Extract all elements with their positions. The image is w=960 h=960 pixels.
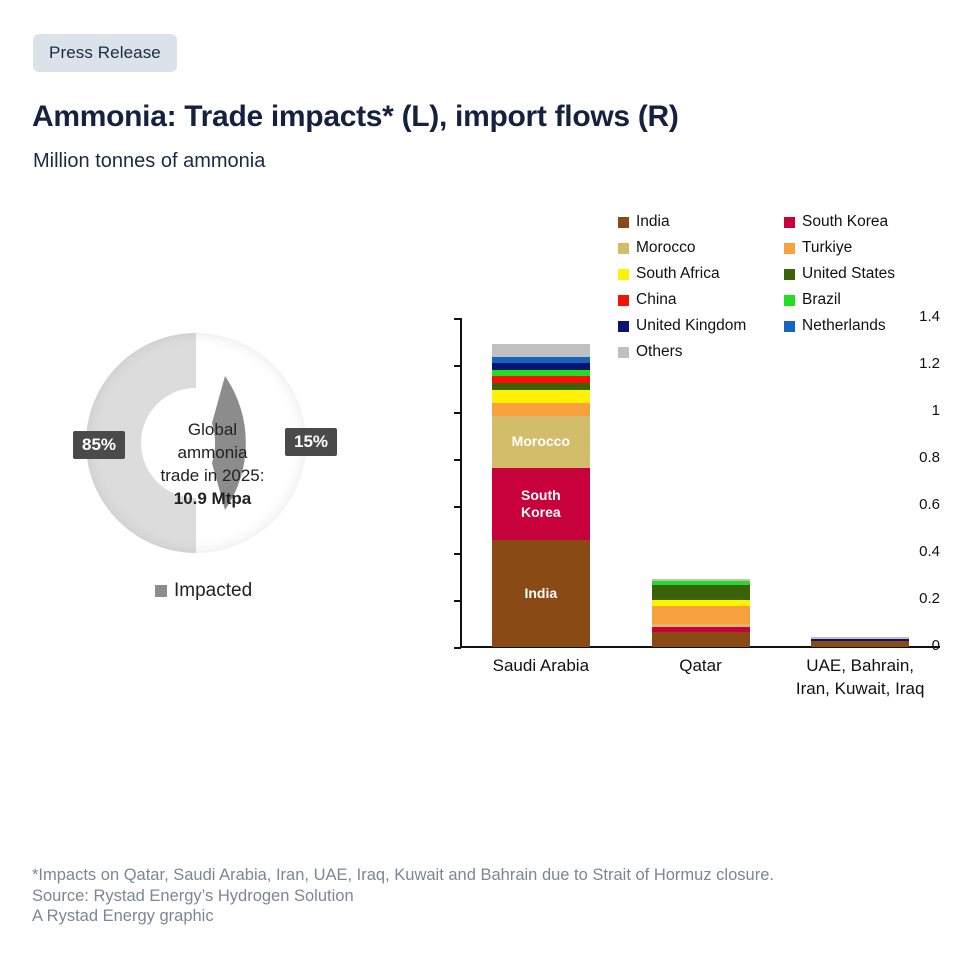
bar-segment-united-kingdom[interactable] (492, 363, 590, 370)
legend-swatch-icon (784, 269, 795, 280)
legend-item-china[interactable]: China (618, 291, 778, 309)
y-tick-mark (454, 506, 461, 508)
bar-segment-morocco[interactable]: Morocco (492, 416, 590, 469)
footnote-source: Source: Rystad Energy’s Hydrogen Solutio… (32, 886, 774, 907)
donut-legend-label-impacted: Impacted (174, 580, 252, 602)
legend-label: China (636, 291, 677, 309)
legend-label: Brazil (802, 291, 841, 309)
bar-segment-label: India (492, 585, 590, 602)
footnote-credit: A Rystad Energy graphic (32, 906, 774, 927)
bar-segment-south-africa[interactable] (492, 390, 590, 403)
bar-stack[interactable] (652, 318, 750, 647)
bar-segment-others[interactable] (811, 637, 909, 639)
press-release-badge: Press Release (33, 34, 177, 72)
donut-chart: Global ammonia trade in 2025: 10.9 Mtpa … (45, 318, 375, 608)
x-axis-label: Qatar (621, 654, 781, 677)
legend-swatch-icon (618, 243, 629, 254)
bar-chart: 00.20.40.60.811.21.4 IndiaSouthKoreaMoro… (420, 310, 940, 710)
donut-label-impacted-percent: 15% (285, 428, 337, 456)
bar-stack[interactable] (811, 318, 909, 647)
donut-legend: Impacted (155, 580, 252, 602)
donut-center-line1: Global (140, 418, 285, 441)
y-tick-mark (454, 365, 461, 367)
bar-segment-label: SouthKorea (492, 487, 590, 521)
donut-center-line2: ammonia (140, 441, 285, 464)
legend-item-brazil[interactable]: Brazil (784, 291, 944, 309)
donut-center-line3: trade in 2025: (140, 464, 285, 487)
legend-swatch-icon (618, 295, 629, 306)
legend-swatch-icon (618, 217, 629, 228)
bar-group: IndiaSouthKoreaMorocco (461, 318, 940, 647)
bar-segment-brazil[interactable] (492, 370, 590, 376)
legend-item-india[interactable]: India (618, 213, 778, 231)
footer-notes: *Impacts on Qatar, Saudi Arabia, Iran, U… (32, 865, 774, 927)
bar-segment-netherlands[interactable] (492, 357, 590, 363)
legend-item-south-africa[interactable]: South Africa (618, 265, 778, 283)
bar-segment-south-africa[interactable] (652, 600, 750, 606)
bar-segment-brazil[interactable] (652, 581, 750, 585)
footnote-impacts: *Impacts on Qatar, Saudi Arabia, Iran, U… (32, 865, 774, 886)
legend-item-turkiye[interactable]: Turkiye (784, 239, 944, 257)
x-axis-label: Saudi Arabia (461, 654, 621, 677)
legend-label: Morocco (636, 239, 695, 257)
legend-item-morocco[interactable]: Morocco (618, 239, 778, 257)
legend-label: United States (802, 265, 895, 283)
x-axis-label: UAE, Bahrain,Iran, Kuwait, Iraq (780, 654, 940, 700)
bar-segment-south-korea[interactable]: SouthKorea (492, 468, 590, 540)
legend-label: Turkiye (802, 239, 852, 257)
donut-center-value: 10.9 Mtpa (140, 487, 285, 510)
bar-segment-label: Morocco (492, 433, 590, 450)
y-tick-mark (454, 647, 461, 649)
y-tick-mark (454, 459, 461, 461)
donut-label-unimpacted-percent: 85% (73, 431, 125, 459)
legend-label: South Africa (636, 265, 720, 283)
page-title: Ammonia: Trade impacts* (L), import flow… (32, 100, 679, 134)
legend-swatch-icon (784, 243, 795, 254)
bar-segment-china[interactable] (492, 376, 590, 383)
legend-label: South Korea (802, 213, 888, 231)
legend-swatch-icon (784, 217, 795, 228)
legend-swatch-icon (784, 295, 795, 306)
bar-segment-others[interactable] (492, 344, 590, 357)
y-tick-mark (454, 412, 461, 414)
donut-legend-swatch-impacted (155, 585, 167, 597)
bar-segment-united-states[interactable] (492, 383, 590, 390)
y-tick-mark (454, 553, 461, 555)
legend-label: India (636, 213, 670, 231)
bar-segment-turkiye[interactable] (492, 403, 590, 416)
page-subtitle: Million tonnes of ammonia (33, 150, 265, 173)
bar-segment-turkiye[interactable] (652, 606, 750, 624)
bar-segment-united-kingdom[interactable] (811, 639, 909, 640)
bar-segment-united-states[interactable] (652, 585, 750, 600)
legend-item-south-korea[interactable]: South Korea (784, 213, 944, 231)
bar-segment-india[interactable] (652, 632, 750, 647)
bar-segment-morocco[interactable] (652, 624, 750, 628)
legend-item-united-states[interactable]: United States (784, 265, 944, 283)
bar-segment-india[interactable] (811, 641, 909, 647)
legend-swatch-icon (618, 269, 629, 280)
bar-stack[interactable]: IndiaSouthKoreaMorocco (492, 318, 590, 647)
y-tick-mark (454, 600, 461, 602)
y-tick-mark (454, 318, 461, 320)
donut-center-text: Global ammonia trade in 2025: 10.9 Mtpa (140, 418, 285, 510)
bar-segment-south-korea[interactable] (652, 627, 750, 632)
bar-segment-others[interactable] (652, 579, 750, 581)
bar-segment-india[interactable]: India (492, 540, 590, 647)
